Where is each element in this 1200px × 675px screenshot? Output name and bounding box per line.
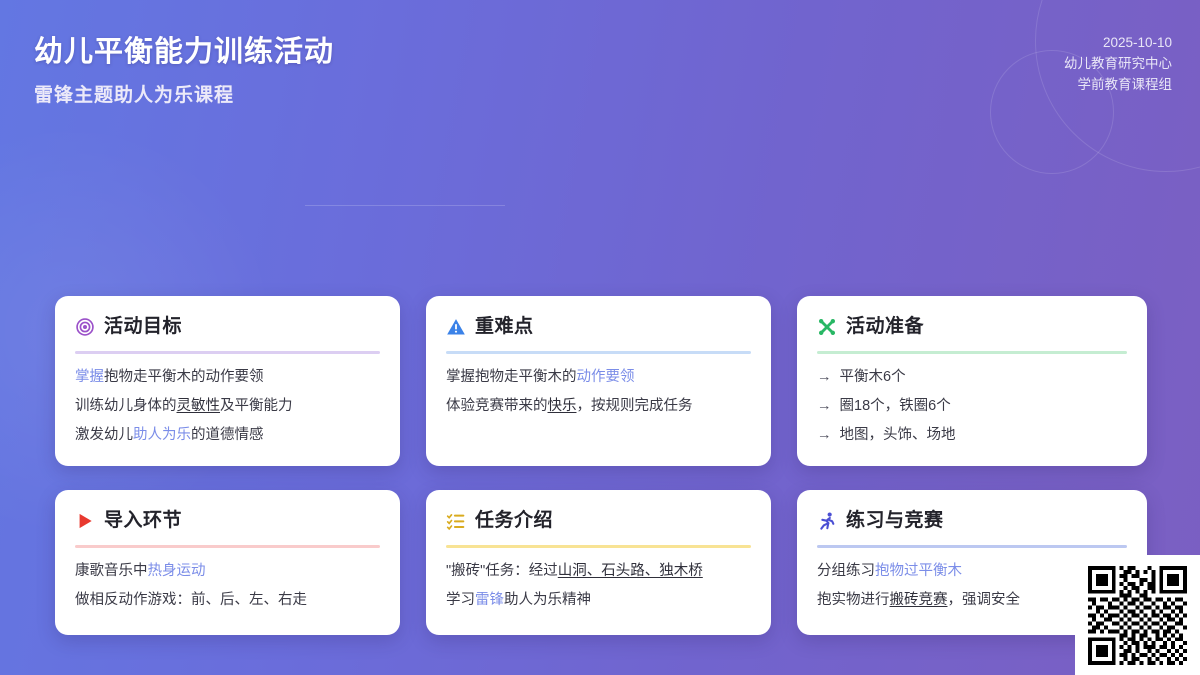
checklist-icon (446, 511, 466, 531)
highlighted-text: 热身运动 (148, 563, 206, 579)
slide-canvas: 幼儿平衡能力训练活动 雷锋主题助人为乐课程 2025-10-10 幼儿教育研究中… (0, 0, 1200, 675)
card-task-introduction[interactable]: 任务介绍"搬砖"任务：经过山洞、石头路、独木桥学习雷锋助人为乐精神 (426, 490, 771, 635)
line-text: 的道德情感 (191, 427, 264, 443)
page-subtitle: 雷锋主题助人为乐课程 (34, 80, 234, 107)
highlighted-text: 掌握 (75, 369, 104, 385)
card-key-difficulty[interactable]: 重难点掌握抱物走平衡木的动作要领体验竞赛带来的快乐，按规则完成任务 (426, 296, 771, 466)
card-title: 练习与竞赛 (846, 510, 944, 532)
card-title: 活动目标 (104, 316, 182, 338)
card-title: 任务介绍 (475, 510, 553, 532)
card-divider (75, 351, 380, 354)
target-icon (75, 317, 95, 337)
line-text: 激发幼儿 (75, 427, 133, 443)
arrow-bullet-icon: → (817, 427, 836, 443)
card-line: → 地图，头饰、场地 (817, 426, 1127, 445)
line-text: 平衡木6个 (840, 369, 906, 385)
warning-triangle-icon (446, 317, 466, 337)
card-divider (817, 351, 1127, 354)
card-activity-preparation[interactable]: 活动准备→ 平衡木6个→ 圈18个，铁圈6个→ 地图，头饰、场地 (797, 296, 1147, 466)
underlined-text: 快乐 (548, 398, 577, 414)
header-team: 学前教育课程组 (1064, 74, 1172, 95)
card-line: 体验竞赛带来的快乐，按规则完成任务 (446, 397, 751, 416)
line-text: ，按规则完成任务 (577, 398, 693, 414)
line-text: 助人为乐精神 (504, 592, 591, 608)
highlighted-text: 雷锋 (475, 592, 504, 608)
running-person-icon (817, 511, 837, 531)
header-date: 2025-10-10 (1064, 32, 1172, 53)
card-divider (75, 545, 380, 548)
slide-header: 幼儿平衡能力训练活动 雷锋主题助人为乐课程 2025-10-10 幼儿教育研究中… (0, 0, 1200, 130)
card-body: 掌握抱物走平衡木的动作要领体验竞赛带来的快乐，按规则完成任务 (446, 368, 751, 416)
line-text: 圈18个，铁圈6个 (840, 398, 951, 414)
line-text: 及平衡能力 (220, 398, 293, 414)
highlighted-text: 抱物过平衡木 (875, 563, 962, 579)
page-title: 幼儿平衡能力训练活动 (34, 28, 334, 70)
card-body: → 平衡木6个→ 圈18个，铁圈6个→ 地图，头饰、场地 (817, 368, 1127, 445)
highlighted-text: 助人为乐 (133, 427, 191, 443)
card-line: 激发幼儿助人为乐的道德情感 (75, 426, 380, 445)
underlined-text: 山洞、石头路、独木桥 (558, 563, 703, 579)
card-body: 掌握抱物走平衡木的动作要领训练幼儿身体的灵敏性及平衡能力激发幼儿助人为乐的道德情… (75, 368, 380, 445)
tools-icon (817, 317, 837, 337)
header-meta: 2025-10-10 幼儿教育研究中心 学前教育课程组 (1064, 32, 1172, 95)
card-title: 重难点 (475, 316, 534, 338)
card-divider (446, 351, 751, 354)
play-triangle-icon (75, 511, 95, 531)
line-text: "搬砖"任务：经过 (446, 563, 558, 579)
line-text: ，强调安全 (948, 592, 1021, 608)
card-line: 康歌音乐中热身运动 (75, 562, 380, 581)
line-text: 训练幼儿身体的 (75, 398, 177, 414)
underlined-text: 搬砖竞赛 (890, 592, 948, 608)
line-text: 康歌音乐中 (75, 563, 148, 579)
line-text: 做相反动作游戏：前、后、左、右走 (75, 592, 307, 608)
line-text: 分组练习 (817, 563, 875, 579)
header-organization: 幼儿教育研究中心 (1064, 53, 1172, 74)
card-line: 掌握抱物走平衡木的动作要领 (446, 368, 751, 387)
card-header: 练习与竞赛 (817, 508, 1127, 534)
card-introduction-segment[interactable]: 导入环节康歌音乐中热身运动做相反动作游戏：前、后、左、右走 (55, 490, 400, 635)
card-body: 康歌音乐中热身运动做相反动作游戏：前、后、左、右走 (75, 562, 380, 610)
card-title: 活动准备 (846, 316, 924, 338)
line-text: 地图，头饰、场地 (840, 427, 956, 443)
cards-grid: 活动目标掌握抱物走平衡木的动作要领训练幼儿身体的灵敏性及平衡能力激发幼儿助人为乐… (55, 296, 1150, 635)
qr-code-panel (1075, 555, 1200, 675)
line-text: 抱物走平衡木的动作要领 (104, 369, 264, 385)
card-line: 训练幼儿身体的灵敏性及平衡能力 (75, 397, 380, 416)
arrow-bullet-icon: → (817, 369, 836, 385)
arrow-bullet-icon: → (817, 398, 836, 414)
card-header: 任务介绍 (446, 508, 751, 534)
line-text: 抱实物进行 (817, 592, 890, 608)
card-header: 活动准备 (817, 314, 1127, 340)
card-divider (446, 545, 751, 548)
line-text: 学习 (446, 592, 475, 608)
decorative-line-mid (305, 205, 505, 206)
card-divider (817, 545, 1127, 548)
card-activity-goal[interactable]: 活动目标掌握抱物走平衡木的动作要领训练幼儿身体的灵敏性及平衡能力激发幼儿助人为乐… (55, 296, 400, 466)
card-line: 做相反动作游戏：前、后、左、右走 (75, 591, 380, 610)
line-text: 掌握抱物走平衡木的 (446, 369, 577, 385)
card-header: 重难点 (446, 314, 751, 340)
card-line: 掌握抱物走平衡木的动作要领 (75, 368, 380, 387)
card-header: 导入环节 (75, 508, 380, 534)
highlighted-text: 动作要领 (577, 369, 635, 385)
card-line: "搬砖"任务：经过山洞、石头路、独木桥 (446, 562, 751, 581)
card-title: 导入环节 (104, 510, 182, 532)
card-line: → 圈18个，铁圈6个 (817, 397, 1127, 416)
card-header: 活动目标 (75, 314, 380, 340)
qr-code[interactable] (1088, 566, 1187, 665)
line-text: 体验竞赛带来的 (446, 398, 548, 414)
card-line: → 平衡木6个 (817, 368, 1127, 387)
card-body: "搬砖"任务：经过山洞、石头路、独木桥学习雷锋助人为乐精神 (446, 562, 751, 610)
card-line: 学习雷锋助人为乐精神 (446, 591, 751, 610)
underlined-text: 灵敏性 (177, 398, 221, 414)
